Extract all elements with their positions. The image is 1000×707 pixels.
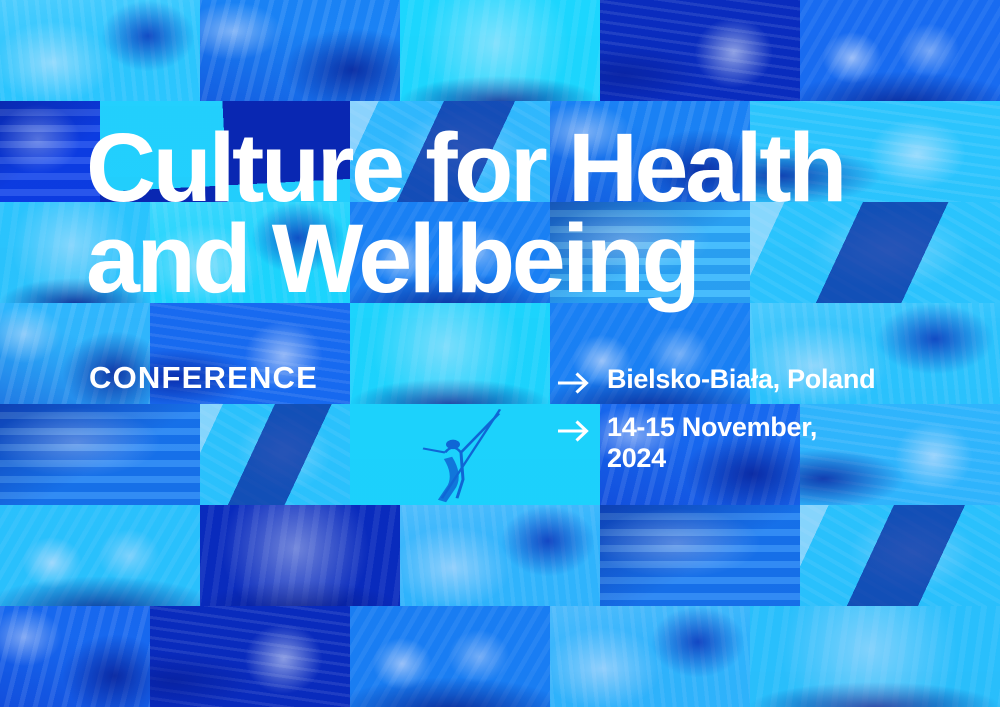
detail-location: Bielsko-Biała, Poland: [556, 364, 956, 398]
mosaic-tile: [350, 606, 550, 707]
photo-mosaic-background: [0, 0, 1000, 707]
mosaic-tile: [0, 101, 100, 202]
mosaic-tile: [350, 303, 550, 404]
location-text: Bielsko-Biała, Poland: [607, 364, 875, 395]
date-text: 14-15 November, 2024: [607, 412, 817, 475]
mosaic-tile: [200, 404, 350, 505]
arrow-right-icon: [556, 368, 590, 398]
title-line-2: and Wellbeing: [86, 213, 946, 304]
mosaic-tile: [400, 0, 600, 101]
mosaic-tile: [0, 505, 200, 606]
mosaic-tile: [800, 505, 1000, 606]
mosaic-tile: [0, 0, 200, 101]
page-title: Culture for Health and Wellbeing: [86, 122, 946, 304]
mosaic-tile: [750, 606, 1000, 707]
mosaic-tile: [800, 0, 1000, 101]
mosaic-tile: [150, 606, 350, 707]
event-type-label: CONFERENCE: [89, 360, 318, 396]
mosaic-tile: [200, 505, 400, 606]
mosaic-tile: [400, 505, 600, 606]
detail-date: 14-15 November, 2024: [556, 412, 956, 475]
mosaic-tile: [0, 606, 150, 707]
mosaic-tile: [550, 606, 750, 707]
arrow-right-icon: [556, 416, 590, 446]
event-details: Bielsko-Biała, Poland 14-15 November, 20…: [556, 364, 956, 489]
mosaic-tile: [0, 404, 200, 505]
mosaic-tile: [200, 0, 400, 101]
conference-poster: Culture for Health and Wellbeing CONFERE…: [0, 0, 1000, 707]
mosaic-tile: [600, 0, 800, 101]
mosaic-tile: [600, 505, 800, 606]
